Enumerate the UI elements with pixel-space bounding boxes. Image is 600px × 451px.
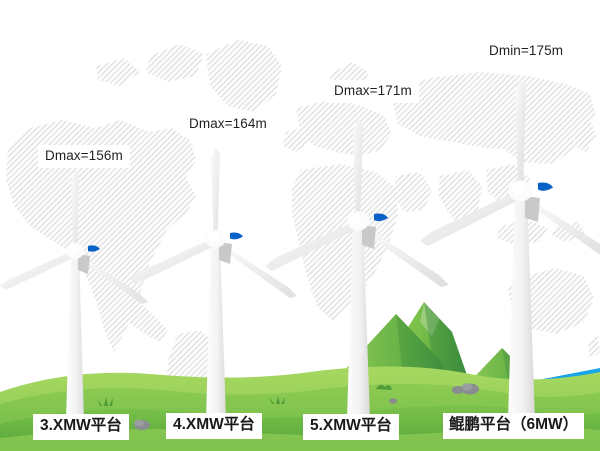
- turbine-tower: [508, 192, 535, 420]
- turbine-nacelle-shadow: [525, 196, 540, 222]
- turbine-blade-up: [353, 118, 363, 220]
- dimension-label-3xmw: Dmax=156m: [38, 145, 130, 168]
- turbine-comparison-figure: Dmax=156m Dmax=164m Dmax=171m Dmin=175m …: [0, 0, 600, 451]
- turbine-blade-left: [420, 193, 517, 246]
- platform-label-4xmw: 4.XMW平台: [166, 413, 262, 439]
- dimension-label-5xmw: Dmax=171m: [327, 80, 419, 103]
- turbine-tower: [66, 252, 84, 420]
- platform-label-kunpeng: 鲲鹏平台（6MW）: [443, 413, 584, 439]
- dimension-label-4xmw: Dmax=164m: [182, 113, 274, 136]
- platform-label-3xmw: 3.XMW平台: [33, 414, 129, 440]
- turbine-blade-left: [265, 223, 355, 271]
- turbine-blade-left: [130, 240, 213, 284]
- turbine-blade-up: [71, 170, 79, 250]
- turbine-blade-up: [515, 78, 526, 190]
- turbine-accent-mark: [538, 183, 553, 191]
- turbine-tower: [206, 240, 226, 420]
- turbine-accent-mark: [88, 245, 100, 251]
- turbine-accent-mark: [374, 214, 388, 222]
- turbine-blade-up: [211, 148, 220, 238]
- dimension-label-kunpeng: Dmin=175m: [482, 40, 570, 63]
- platform-label-5xmw: 5.XMW平台: [303, 414, 399, 440]
- turbine-kunpeng-6mw: [420, 78, 600, 451]
- turbine-tower: [347, 222, 370, 420]
- turbine-blade-left: [0, 252, 73, 290]
- turbine-accent-mark: [230, 232, 243, 239]
